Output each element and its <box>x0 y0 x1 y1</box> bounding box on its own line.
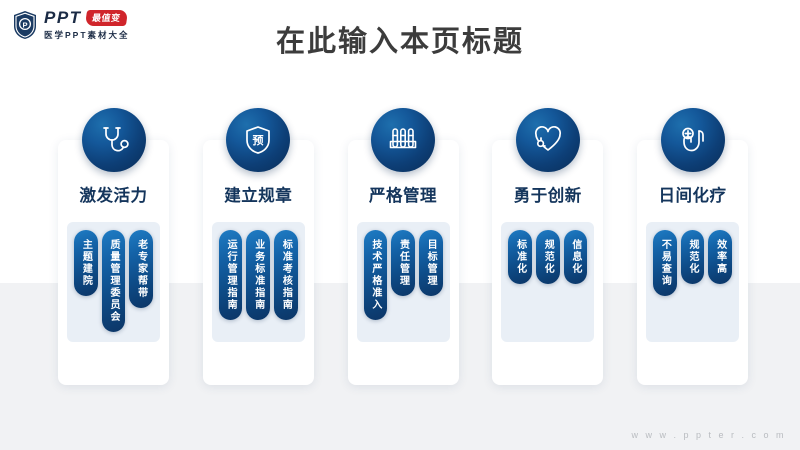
pill-panel: 技术严格准入 责任管理 目标管理 <box>357 222 450 342</box>
pill-label: 目标管理 <box>424 239 437 287</box>
pill-item[interactable]: 质量管理委员会 <box>102 230 126 332</box>
pill-label: 效率高 <box>714 239 727 275</box>
feature-card[interactable]: 激发活力 主题建院 质量管理委员会 老专家帮带 <box>58 140 169 385</box>
pill-item[interactable]: 标准化 <box>508 230 532 284</box>
pill-item[interactable]: 规范化 <box>681 230 705 284</box>
pill-label: 规范化 <box>541 239 554 275</box>
hand-plus-icon <box>661 108 725 172</box>
feature-card[interactable]: 日间化疗 不易查询 规范化 效率高 <box>637 140 748 385</box>
logo-primary-row: PPT 最值变 <box>44 8 130 28</box>
site-watermark: w w w . p p t e r . c o m <box>631 430 786 440</box>
pill-item[interactable]: 信息化 <box>564 230 588 284</box>
card-title: 激发活力 <box>80 182 148 206</box>
logo-brand-text: PPT <box>44 8 82 28</box>
pill-item[interactable]: 不易查询 <box>653 230 677 296</box>
pill-item[interactable]: 责任管理 <box>391 230 415 296</box>
shield-logo-icon: P <box>12 10 38 40</box>
svg-text:预: 预 <box>253 133 264 147</box>
logo-badge: 最值变 <box>84 10 127 26</box>
pill-panel: 运行管理指南 业务标准指南 标准考核指南 <box>212 222 305 342</box>
pill-label: 标准化 <box>514 239 527 275</box>
pill-item[interactable]: 主题建院 <box>74 230 98 296</box>
pill-label: 规范化 <box>686 239 699 275</box>
card-row: 激发活力 主题建院 质量管理委员会 老专家帮带 预 建立规章 运行管理指南 业务… <box>58 140 748 385</box>
logo-tagline: 医学PPT素材大全 <box>44 29 130 41</box>
shield-prevention-icon: 预 <box>226 108 290 172</box>
pill-label: 运行管理指南 <box>224 239 237 311</box>
pill-label: 标准考核指南 <box>279 239 292 311</box>
pill-panel: 主题建院 质量管理委员会 老专家帮带 <box>67 222 160 342</box>
brand-logo: P PPT 最值变 医学PPT素材大全 <box>12 8 130 41</box>
stethoscope-icon <box>82 108 146 172</box>
pill-label: 技术严格准入 <box>369 239 382 311</box>
pill-item[interactable]: 标准考核指南 <box>274 230 298 320</box>
pill-label: 责任管理 <box>397 239 410 287</box>
pill-item[interactable]: 效率高 <box>708 230 732 284</box>
card-title: 勇于创新 <box>514 182 582 206</box>
logo-text-block: PPT 最值变 医学PPT素材大全 <box>44 8 130 41</box>
card-title: 建立规章 <box>224 182 292 206</box>
pill-label: 主题建院 <box>79 239 92 287</box>
pill-label: 质量管理委员会 <box>107 239 120 323</box>
svg-text:P: P <box>22 20 27 29</box>
card-title: 日间化疗 <box>659 182 727 206</box>
pill-panel: 标准化 规范化 信息化 <box>501 222 594 342</box>
pill-item[interactable]: 技术严格准入 <box>364 230 388 320</box>
feature-card[interactable]: 勇于创新 标准化 规范化 信息化 <box>492 140 603 385</box>
pill-item[interactable]: 业务标准指南 <box>246 230 270 320</box>
pill-item[interactable]: 规范化 <box>536 230 560 284</box>
pill-panel: 不易查询 规范化 效率高 <box>646 222 739 342</box>
pill-item[interactable]: 老专家帮带 <box>129 230 153 308</box>
feature-card[interactable]: 严格管理 技术严格准入 责任管理 目标管理 <box>348 140 459 385</box>
card-title: 严格管理 <box>369 182 437 206</box>
slide-canvas: P PPT 最值变 医学PPT素材大全 在此输入本页标题 激发活力 <box>0 0 800 450</box>
pill-label: 老专家帮带 <box>135 239 148 299</box>
pill-item[interactable]: 目标管理 <box>419 230 443 296</box>
test-tubes-icon <box>371 108 435 172</box>
feature-card[interactable]: 预 建立规章 运行管理指南 业务标准指南 标准考核指南 <box>203 140 314 385</box>
pill-item[interactable]: 运行管理指南 <box>219 230 243 320</box>
pill-label: 信息化 <box>569 239 582 275</box>
pill-label: 业务标准指南 <box>252 239 265 311</box>
pill-label: 不易查询 <box>658 239 671 287</box>
heart-stethoscope-icon <box>516 108 580 172</box>
